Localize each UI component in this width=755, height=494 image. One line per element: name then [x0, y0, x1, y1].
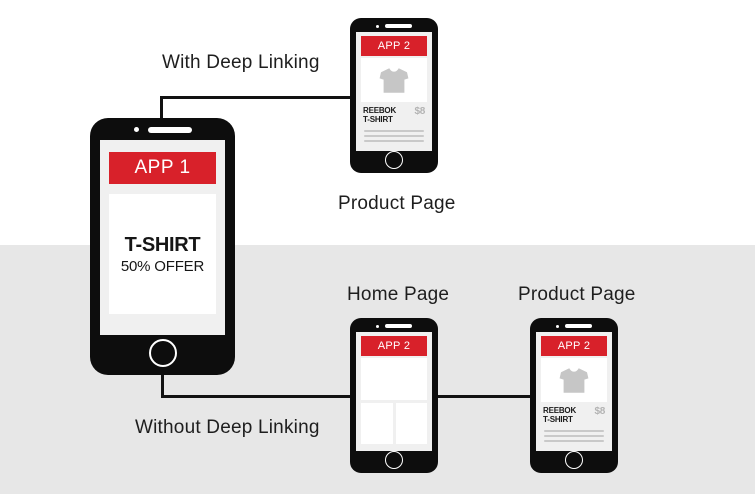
label-without-deep-linking: Without Deep Linking [135, 417, 320, 439]
app2-header-bar: APP 2 [361, 36, 427, 56]
speaker-icon [565, 324, 592, 328]
app2-header-bar: APP 2 [541, 336, 607, 356]
placeholder-line [364, 130, 424, 132]
product-name-line2: T-SHIRT [363, 115, 396, 124]
deep-linking-diagram: With Deep Linking Product Page Home Page… [0, 0, 755, 494]
app1-header-bar: APP 1 [109, 152, 216, 184]
product-price: $8 [594, 406, 605, 417]
label-product-page-bottom: Product Page [518, 284, 636, 306]
speaker-icon [385, 24, 412, 28]
phone-app1-notchbar [90, 125, 235, 134]
product-price: $8 [414, 106, 425, 117]
speaker-icon [385, 324, 412, 328]
camera-icon [556, 325, 559, 328]
phone-notchbar [350, 323, 438, 329]
product-name-price-row: REEBOK T-SHIRT $8 [361, 104, 427, 124]
product-image-box [541, 358, 607, 402]
phone-notchbar [530, 323, 618, 329]
grid-tile-left[interactable] [361, 403, 393, 444]
phone-product-page-top[interactable]: APP 2 REEBOK T-SHIRT $8 [350, 18, 438, 173]
placeholder-line [544, 430, 604, 432]
grid-tile-right[interactable] [396, 403, 428, 444]
phone-notchbar [350, 23, 438, 29]
product-name-line1: REEBOK [543, 406, 576, 415]
connector-bottom-horizontal-2 [436, 395, 532, 398]
placeholder-line [544, 440, 604, 442]
placeholder-line [544, 435, 604, 437]
phone-screen: APP 2 REEBOK T-SHIRT $8 [356, 32, 432, 151]
home-page-grid [361, 358, 427, 444]
tshirt-icon [379, 67, 409, 94]
camera-icon [134, 127, 139, 132]
product-name-line2: T-SHIRT [543, 415, 576, 424]
product-name-line1: REEBOK [363, 106, 396, 115]
phone-home-page[interactable]: APP 2 [350, 318, 438, 473]
product-name: REEBOK T-SHIRT [543, 406, 576, 424]
product-description-placeholder [541, 424, 607, 442]
home-button[interactable] [385, 451, 403, 469]
product-info: REEBOK T-SHIRT $8 [361, 104, 427, 144]
grid-bottom-row [361, 403, 427, 444]
app1-promo-panel[interactable]: T-SHIRT 50% OFFER [109, 194, 216, 314]
tshirt-icon [559, 367, 589, 394]
label-with-deep-linking: With Deep Linking [162, 52, 320, 74]
product-info: REEBOK T-SHIRT $8 [541, 404, 607, 444]
home-button[interactable] [385, 151, 403, 169]
label-home-page: Home Page [347, 284, 449, 306]
placeholder-line [364, 135, 424, 137]
label-product-page-top: Product Page [338, 193, 456, 215]
product-description-placeholder [361, 124, 427, 142]
grid-tile-hero[interactable] [361, 358, 427, 400]
camera-icon [376, 325, 379, 328]
product-name-price-row: REEBOK T-SHIRT $8 [541, 404, 607, 424]
home-button[interactable] [565, 451, 583, 469]
phone-app1[interactable]: APP 1 T-SHIRT 50% OFFER [90, 118, 235, 375]
connector-top-horizontal [160, 96, 352, 99]
placeholder-line [364, 140, 424, 142]
promo-subtitle: 50% OFFER [121, 258, 204, 275]
product-image-box [361, 58, 427, 102]
phone-app1-screen: APP 1 T-SHIRT 50% OFFER [100, 140, 225, 335]
home-button[interactable] [149, 339, 177, 367]
app2-header-bar: APP 2 [361, 336, 427, 356]
speaker-icon [148, 127, 192, 133]
phone-screen: APP 2 REEBOK T-SHIRT $8 [536, 332, 612, 451]
phone-screen: APP 2 [356, 332, 432, 451]
camera-icon [376, 25, 379, 28]
product-name: REEBOK T-SHIRT [363, 106, 396, 124]
phone-product-page-bottom[interactable]: APP 2 REEBOK T-SHIRT $8 [530, 318, 618, 473]
promo-title: T-SHIRT [125, 234, 201, 256]
connector-bottom-horizontal-1 [161, 395, 353, 398]
